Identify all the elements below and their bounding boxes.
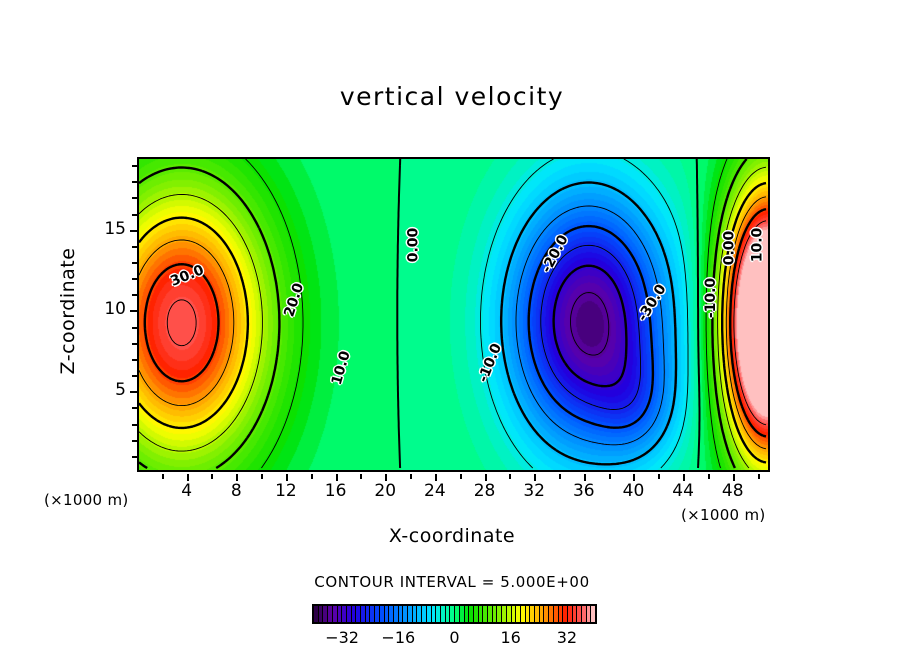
- x-axis-tick: [633, 474, 635, 481]
- y-axis-tick: [132, 262, 137, 264]
- x-axis-tick: [162, 474, 164, 479]
- x-axis-tick: [236, 474, 238, 481]
- y-axis-tick: [132, 165, 137, 167]
- x-axis-tick-label: 28: [462, 481, 508, 501]
- x-axis-tick: [584, 474, 586, 481]
- x-axis-title: X-coordinate: [0, 525, 904, 547]
- y-axis-tick: [132, 181, 137, 183]
- colorbar-tick-label: −16: [373, 628, 423, 647]
- y-axis-tick: [132, 294, 137, 296]
- y-axis-tick-label: 15: [92, 219, 126, 239]
- x-axis-tick-label: 44: [660, 481, 706, 501]
- contour-lines-overlay: [139, 159, 768, 470]
- x-axis-tick-label: 48: [710, 481, 756, 501]
- y-axis-title: Z-coordinate: [57, 211, 79, 411]
- x-axis-tick: [485, 474, 487, 481]
- contour-label: 10.0: [749, 228, 765, 263]
- x-axis-tick-label: 16: [313, 481, 359, 501]
- y-axis-tick: [132, 424, 137, 426]
- x-axis-units: (×1000 m): [681, 506, 766, 524]
- y-axis-tick: [132, 327, 137, 329]
- x-axis-tick: [559, 474, 561, 479]
- y-axis-tick: [130, 310, 137, 312]
- colorbar-tick-label: 32: [542, 628, 592, 647]
- y-axis-tick: [132, 197, 137, 199]
- contour-line--15: [516, 206, 664, 445]
- colorbar-tick-labels: −32−1601632: [290, 628, 620, 650]
- x-axis-tick: [336, 474, 338, 481]
- colorbar: [312, 604, 597, 624]
- contour-interval-text: CONTOUR INTERVAL = 5.000E+00: [0, 573, 904, 591]
- y-axis-tick: [132, 456, 137, 458]
- y-axis-tick-label: 10: [92, 299, 126, 319]
- x-axis-tick: [286, 474, 288, 481]
- x-axis-tick: [410, 474, 412, 479]
- y-axis-tick: [130, 391, 137, 393]
- x-axis-tick: [385, 474, 387, 481]
- y-axis-tick: [132, 440, 137, 442]
- contour-line-20: [139, 183, 766, 462]
- x-axis-tick: [261, 474, 263, 479]
- contour-plot-area: [137, 157, 770, 472]
- y-axis-tick: [132, 246, 137, 248]
- x-axis-tick: [733, 474, 735, 481]
- contour-label: 0.00: [721, 231, 737, 266]
- colorbar-cell: [591, 606, 595, 622]
- x-axis-tick-label: 20: [362, 481, 408, 501]
- x-axis-tick: [360, 474, 362, 479]
- x-axis-tick: [509, 474, 511, 479]
- x-axis-tick-label: 24: [412, 481, 458, 501]
- x-axis-tick-label: 12: [263, 481, 309, 501]
- x-axis-tick: [708, 474, 710, 479]
- contour-label: 0.00: [405, 228, 421, 263]
- y-axis-tick-label: 5: [92, 380, 126, 400]
- x-axis-tick: [311, 474, 313, 479]
- x-axis-tick-label: 4: [164, 481, 210, 501]
- contour-label: -10.0: [703, 278, 719, 318]
- x-axis-tick-label: 32: [511, 481, 557, 501]
- page-title: vertical velocity: [0, 82, 904, 111]
- x-axis-tick: [435, 474, 437, 481]
- y-axis-tick: [132, 214, 137, 216]
- contour-line-10: [139, 159, 747, 468]
- y-axis-tick: [132, 407, 137, 409]
- contour-line-15: [139, 167, 766, 468]
- x-axis-tick: [460, 474, 462, 479]
- contour-line--35: [571, 293, 609, 356]
- x-axis-tick: [187, 474, 189, 481]
- x-axis-tick-label: 40: [610, 481, 656, 501]
- x-axis-tick: [758, 474, 760, 479]
- y-axis-units: (×1000 m): [44, 491, 129, 509]
- y-axis-tick: [132, 375, 137, 377]
- y-axis-tick: [132, 359, 137, 361]
- y-axis-tick: [130, 230, 137, 232]
- x-axis-tick: [211, 474, 213, 479]
- colorbar-tick-label: 16: [486, 628, 536, 647]
- y-axis-tick: [132, 343, 137, 345]
- x-axis-tick: [658, 474, 660, 479]
- x-axis-tick: [534, 474, 536, 481]
- x-axis-tick-label: 36: [561, 481, 607, 501]
- contour-line--30: [554, 266, 627, 387]
- colorbar-tick-label: −32: [317, 628, 367, 647]
- x-axis-tick: [683, 474, 685, 481]
- x-axis-tick: [609, 474, 611, 479]
- x-axis-tick-label: 8: [213, 481, 259, 501]
- y-axis-tick: [132, 278, 137, 280]
- colorbar-tick-label: 0: [430, 628, 480, 647]
